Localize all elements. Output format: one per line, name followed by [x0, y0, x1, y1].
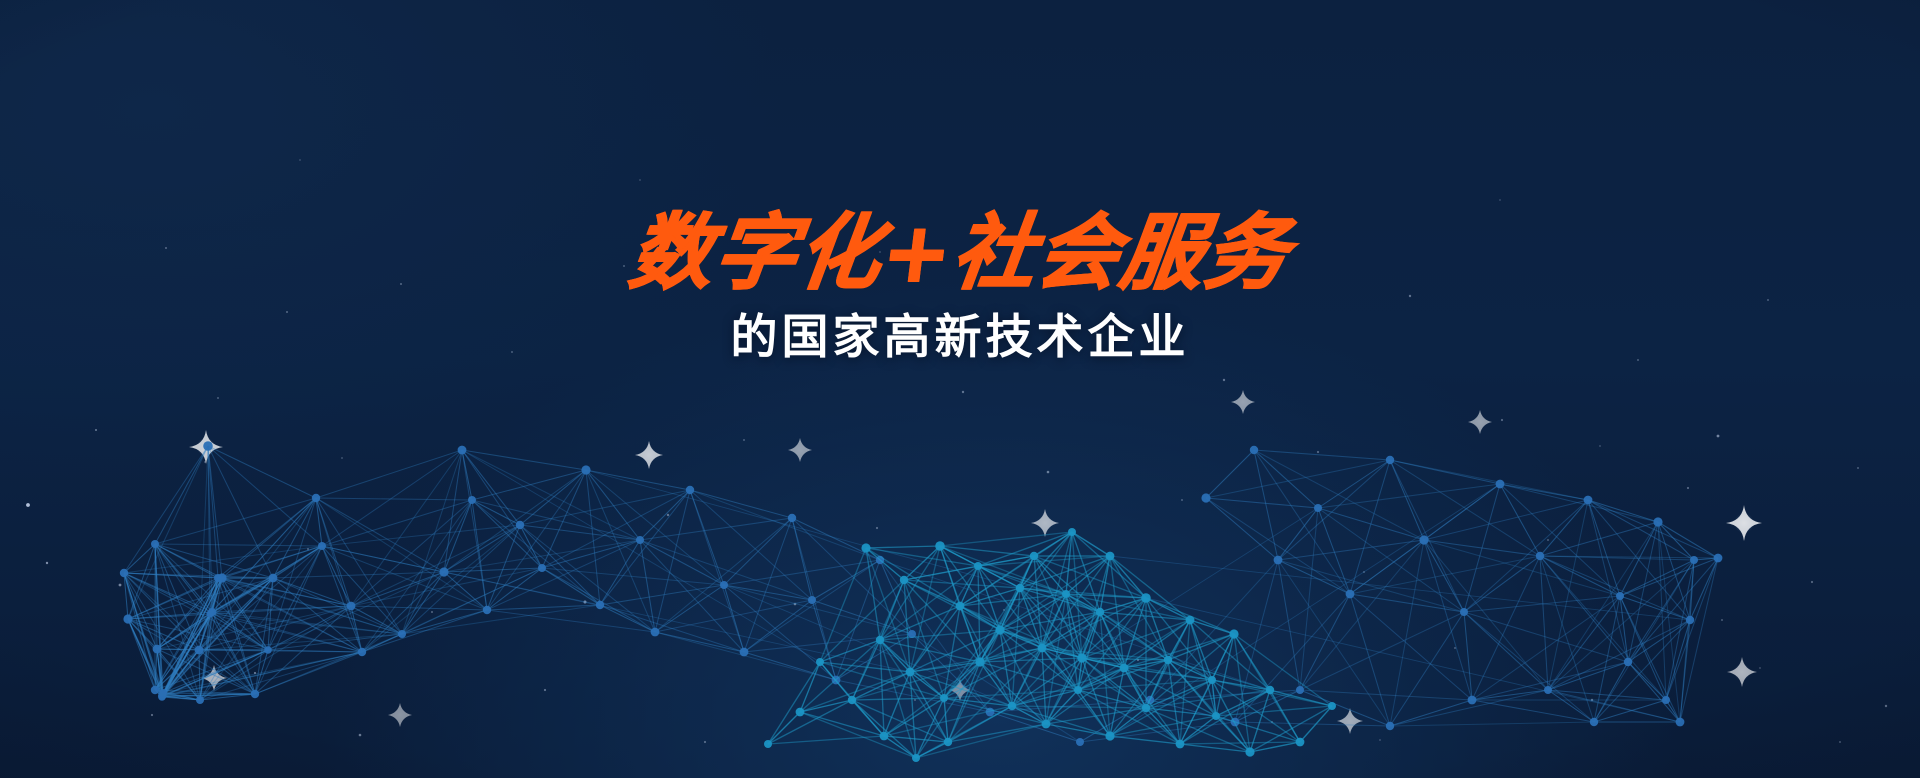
polygon-network-mesh [0, 0, 1920, 778]
network-cluster-blue [120, 441, 1723, 746]
hero-banner: 数字化+社会服务 的国家高新技术企业 [0, 0, 1920, 778]
banner-subtitle: 的国家高新技术企业 [0, 312, 1920, 364]
banner-title: 数字化+社会服务 [0, 212, 1920, 296]
mesh-links [124, 446, 1718, 742]
banner-copy: 数字化+社会服务 的国家高新技术企业 [0, 212, 1920, 363]
